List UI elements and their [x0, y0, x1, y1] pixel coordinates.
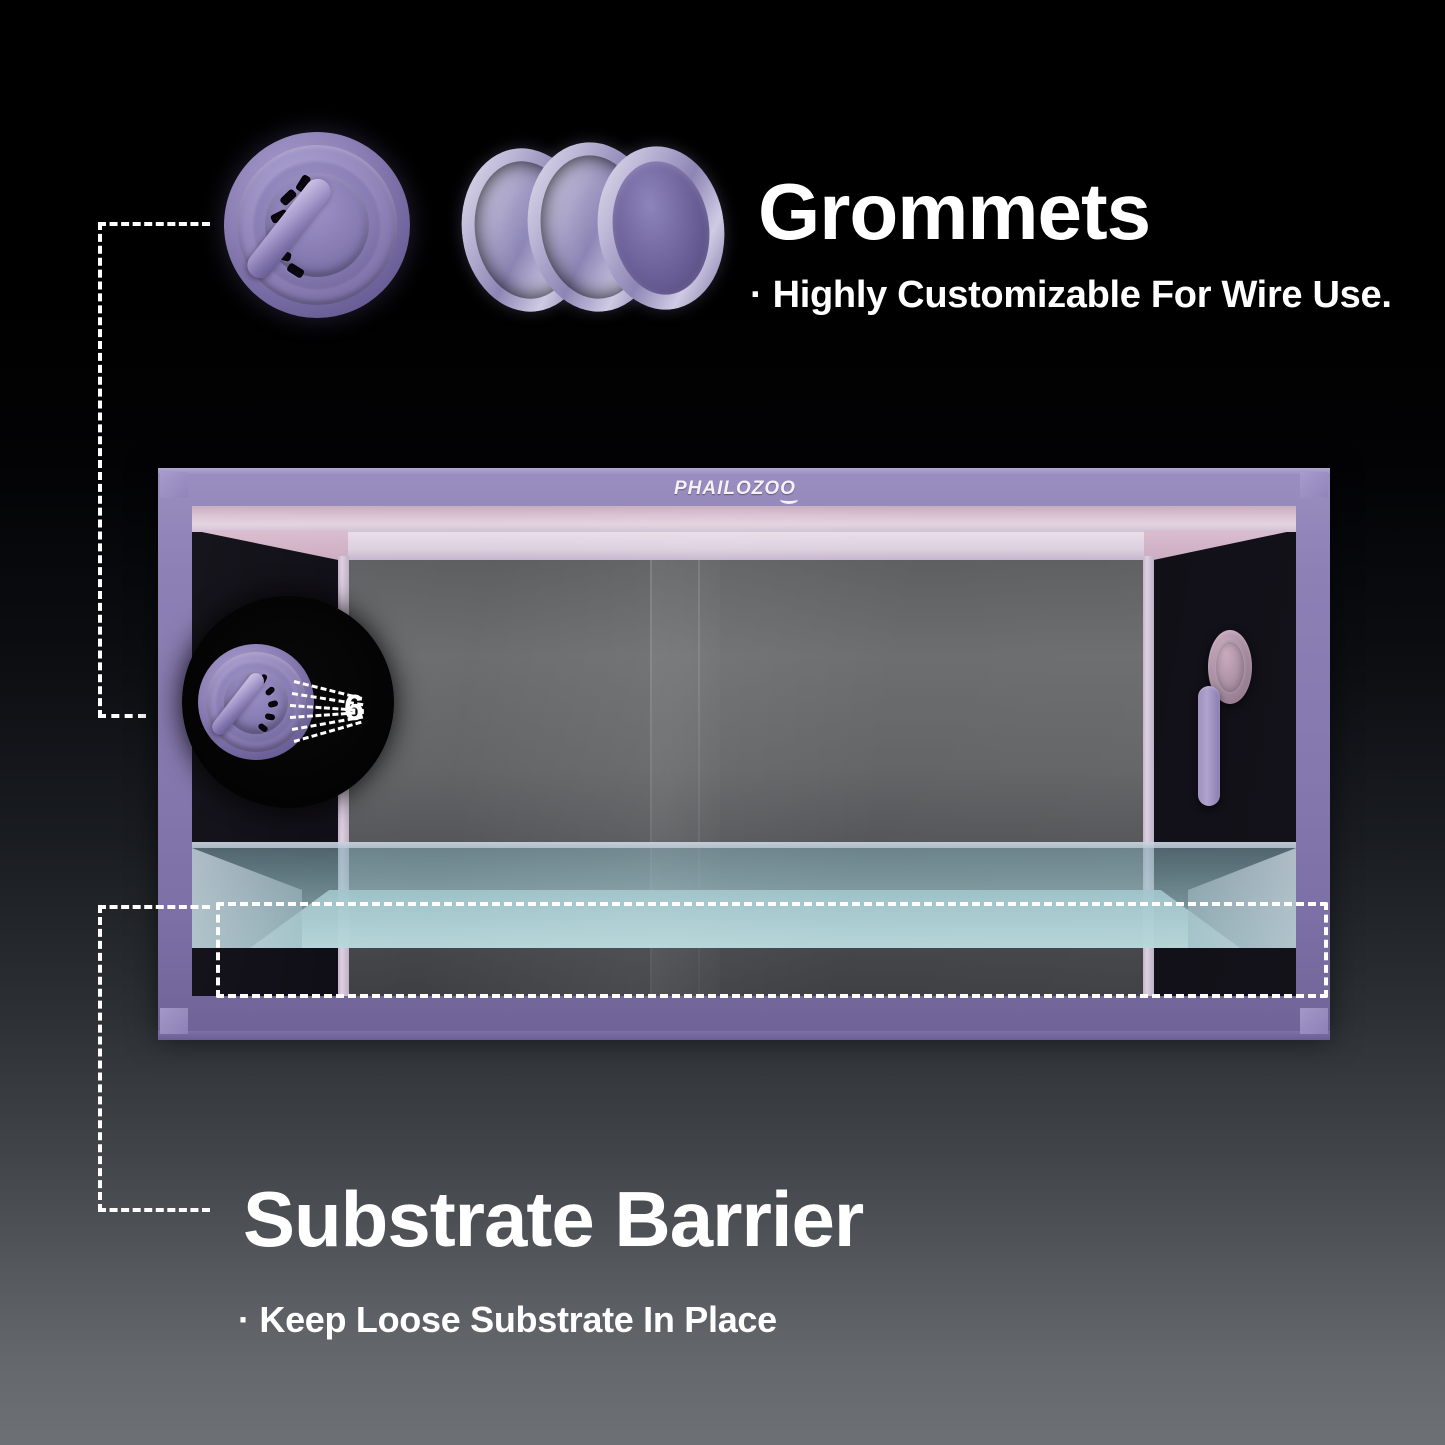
leader-vertical-segment — [98, 222, 102, 718]
grommets-bullet: · Highly Customizable For Wire Use. — [750, 276, 1392, 314]
leader-bottom-segment — [98, 1208, 210, 1212]
leader-vertical-segment — [98, 905, 102, 1212]
brand-swoosh-icon — [780, 495, 798, 504]
grommet-callout-bubble: 6 — [182, 596, 394, 808]
door-lock-knob-ring — [1214, 640, 1246, 693]
frame-bottom-bevel — [158, 1031, 1330, 1040]
frame-corner-highlight — [1300, 1008, 1328, 1034]
substrate-floor — [250, 890, 1240, 948]
callout-grommet-render — [198, 644, 314, 760]
grommets-title: Grommets — [758, 172, 1150, 252]
substrate-barrier-leader-bracket — [98, 905, 210, 1212]
leader-top-segment — [98, 905, 210, 909]
grommet-cap-render — [224, 132, 410, 318]
brand-logo-text: PHAILOZOO — [674, 478, 796, 499]
leader-top-segment — [98, 222, 210, 226]
interior-ceiling-front — [192, 506, 1296, 532]
substrate-barrier-bullet: · Keep Loose Substrate In Place — [238, 1302, 777, 1338]
frame-top-bevel — [158, 468, 1330, 476]
brand-logo: PHAILOZOO — [674, 478, 796, 500]
frame-corner-highlight — [1300, 472, 1328, 498]
interior-ceiling-back — [344, 532, 1148, 560]
grommet-count-label: 6 — [344, 690, 364, 726]
door-lock-lever — [1198, 686, 1220, 806]
frame-corner-highlight — [160, 472, 188, 498]
leader-bottom-segment — [98, 714, 146, 718]
substrate-barrier-title: Substrate Barrier — [243, 1180, 863, 1258]
substrate-barrier-ledge — [192, 842, 1296, 848]
